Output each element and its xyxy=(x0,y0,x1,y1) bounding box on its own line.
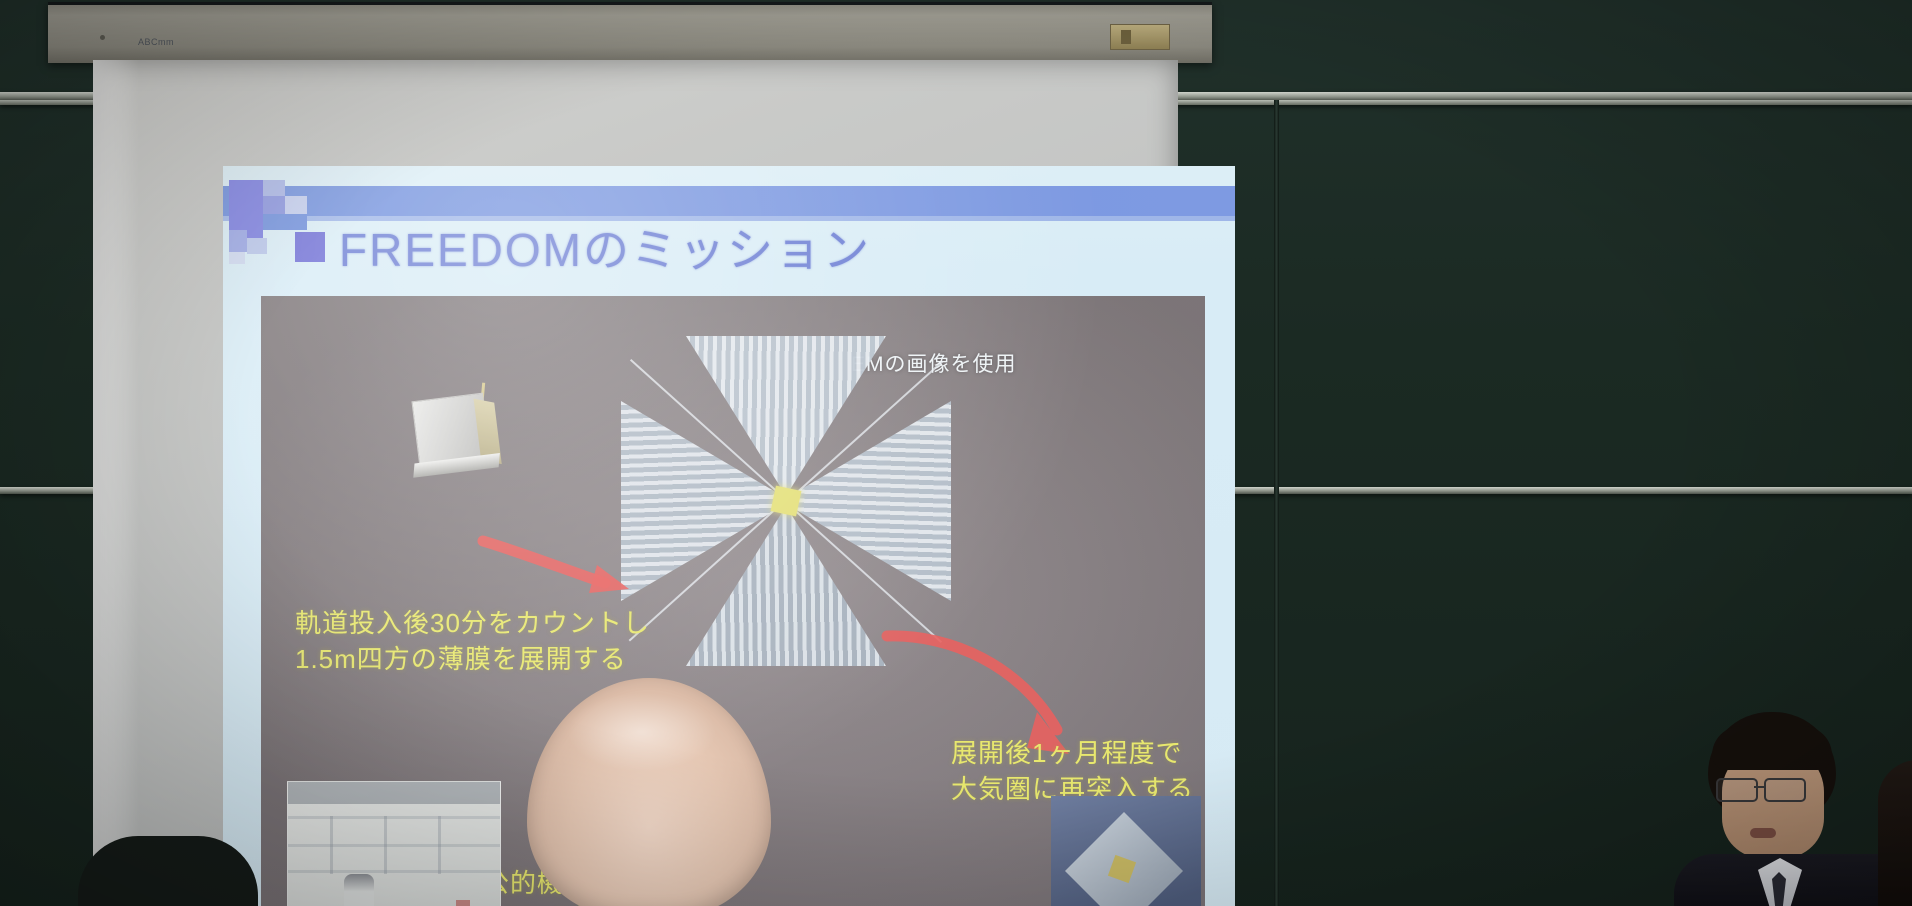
head-highlight xyxy=(567,692,717,772)
cubesat-thumbnail xyxy=(402,380,513,491)
lab-technician xyxy=(344,874,374,906)
blackboard-seam xyxy=(1274,100,1279,906)
projector-screen-casing: ABCmm xyxy=(48,2,1212,63)
casing-label: ABCmm xyxy=(138,37,174,47)
casing-screw xyxy=(100,35,105,40)
presenter-glasses-right-lens xyxy=(1764,778,1806,802)
reentry-callout-line1: 展開後1ヶ月程度で xyxy=(951,736,1194,772)
presenter-mouth xyxy=(1750,828,1776,838)
screenshot-root: ABCmm FREEDOMのミッション xyxy=(0,0,1912,906)
slide-accent-bar xyxy=(223,186,1235,216)
presenter-glasses-left-lens xyxy=(1716,778,1758,802)
sail-center-hub xyxy=(771,486,802,517)
deployment-arrow-icon xyxy=(479,531,654,601)
slide-title-text: FREEDOMのミッション xyxy=(339,214,871,280)
deployment-callout: 軌道投入後30分をカウントし 1.5m四方の薄膜を展開する xyxy=(295,606,650,678)
deployment-callout-line2: 1.5m四方の薄膜を展開する xyxy=(295,642,650,678)
presenter-glasses-bridge xyxy=(1754,786,1766,788)
slide-title: FREEDOMのミッション xyxy=(295,214,871,280)
audience-shoulder xyxy=(78,836,258,906)
cleanroom-photo-inset xyxy=(287,781,501,906)
casing-latch-plate xyxy=(1110,24,1170,50)
title-bullet-icon xyxy=(295,232,325,262)
presenter xyxy=(1672,712,1912,906)
presenter-hair-fringe xyxy=(1712,726,1832,770)
deployment-callout-line1: 軌道投入後30分をカウントし xyxy=(295,606,650,642)
reentry-inset xyxy=(1051,796,1201,906)
screen-left-shade xyxy=(93,60,139,906)
lab-equipment xyxy=(456,900,470,906)
secondary-person xyxy=(1878,760,1912,906)
